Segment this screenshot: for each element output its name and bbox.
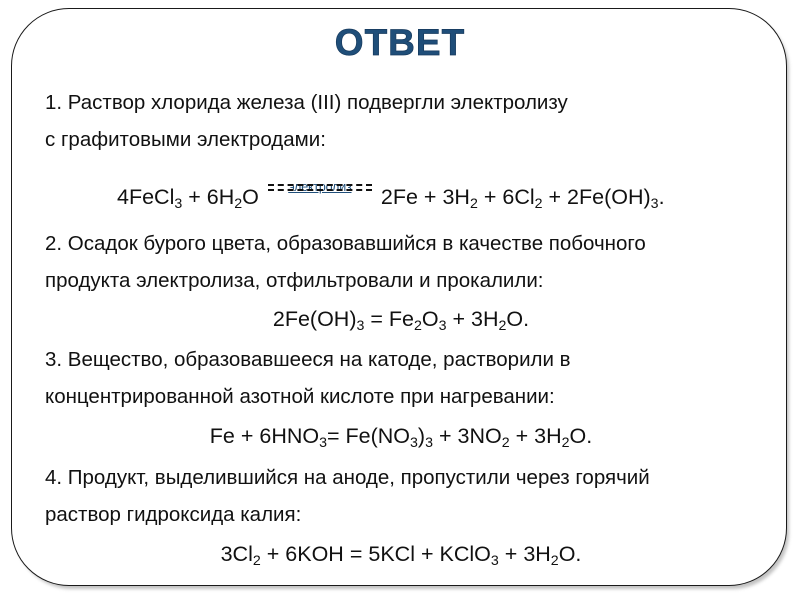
equation-4: 3Cl2 + 6KOH = 5KCl + KClO3 + 3H2O.	[45, 535, 757, 574]
eq1-feoh3: 2Fe(OH)	[567, 185, 651, 209]
eq2-h2o-o: O	[506, 307, 523, 331]
equation-2-block: 2Fe(OH)3 = Fe2O3 + 3H2O.	[45, 300, 757, 339]
slide-content: ОТВЕТ 1. Раствор хлорида железа (III) по…	[0, 0, 800, 600]
eq4-h2o: 3H	[523, 542, 550, 566]
electrolysis-condition-label: электролиз	[268, 168, 372, 207]
eq2-equals: =	[370, 307, 383, 331]
step-1-line-2: с графитовыми электродами:	[45, 121, 757, 158]
step-2-line-2: продукта электролиза, отфильтровали и пр…	[45, 262, 757, 299]
eq3-period: .	[586, 424, 592, 448]
step-4-line-1: 4. Продукт, выделившийся на аноде, пропу…	[45, 459, 757, 496]
step-3-line-1: 3. Вещество, образовавшееся на катоде, р…	[45, 341, 757, 378]
eq3-plus-3: +	[516, 424, 529, 448]
eq3-plus-2: +	[439, 424, 452, 448]
eq4-equals: =	[350, 542, 363, 566]
eq1-cl2: 6Cl	[502, 185, 534, 209]
eq1-period: .	[659, 185, 665, 209]
eq3-fe: Fe	[210, 424, 235, 448]
eq1-plus-4: +	[549, 185, 562, 209]
eq4-cl2-sub: 2	[253, 553, 261, 569]
step-1-block: 1. Раствор хлорида железа (III) подвергл…	[45, 84, 757, 158]
step-4-line-2: раствор гидроксида калия:	[45, 496, 757, 533]
eq4-plus-2: +	[421, 542, 434, 566]
step-1-line-1: 1. Раствор хлорида железа (III) подвергл…	[45, 84, 757, 121]
equation-1-block: 4FeCl3 + 6H2O электролиз 2Fe + 3H2 + 6Cl…	[45, 178, 757, 217]
step-2-block: 2. Осадок бурого цвета, образовавшийся в…	[45, 225, 757, 299]
eq3-feno33-sub2: 3	[425, 435, 433, 451]
eq1-fecl3-sub: 3	[174, 196, 182, 212]
eq1-fecl3: 4FeCl	[117, 185, 174, 209]
eq4-h2o-sub: 2	[551, 553, 559, 569]
eq1-h2o: 6H	[207, 185, 234, 209]
step-2-line-1: 2. Осадок бурого цвета, образовавшийся в…	[45, 225, 757, 262]
eq3-h2o: 3H	[534, 424, 561, 448]
eq1-h2o-sub: 2	[234, 196, 242, 212]
electrolysis-arrow: электролиз	[268, 183, 372, 205]
eq1-plus-1: +	[188, 185, 201, 209]
eq1-h2o-o: O	[242, 185, 259, 209]
eq3-h2o-o: O	[570, 424, 587, 448]
eq3-hno3: 6HNO	[259, 424, 319, 448]
eq3-no2: 3NO	[458, 424, 502, 448]
eq4-plus-1: +	[267, 542, 280, 566]
eq4-period: .	[575, 542, 581, 566]
eq1-fe: 2Fe	[381, 185, 418, 209]
eq4-kcl: 5KCl	[368, 542, 415, 566]
eq1-feoh3-sub: 3	[651, 196, 659, 212]
eq3-hno3-sub: 3	[319, 435, 327, 451]
eq4-cl2: 3Cl	[221, 542, 253, 566]
eq2-fe2o3-o: O	[422, 307, 439, 331]
equation-3: Fe + 6HNO3= Fe(NO3)3 + 3NO2 + 3H2O.	[45, 417, 757, 456]
eq2-feoh3: 2Fe(OH)	[273, 307, 357, 331]
equation-4-block: 3Cl2 + 6KOH = 5KCl + KClO3 + 3H2O.	[45, 535, 757, 574]
eq1-cl2-sub: 2	[535, 196, 543, 212]
eq1-h2: 3H	[442, 185, 469, 209]
step-4-block: 4. Продукт, выделившийся на аноде, пропу…	[45, 459, 757, 533]
eq2-period: .	[523, 307, 529, 331]
arrow-bar-bottom	[268, 189, 372, 191]
eq2-fe2o3-sub2: 3	[439, 318, 447, 334]
slide-canvas: ОТВЕТ 1. Раствор хлорида железа (III) по…	[0, 0, 800, 600]
step-3-block: 3. Вещество, образовавшееся на катоде, р…	[45, 341, 757, 415]
eq2-plus: +	[453, 307, 466, 331]
eq3-feno33: Fe(NO	[346, 424, 411, 448]
eq3-equals: =	[327, 424, 340, 448]
eq2-feoh3-sub: 3	[356, 318, 364, 334]
eq2-fe2o3-sub1: 2	[414, 318, 422, 334]
equation-3-block: Fe + 6HNO3= Fe(NO3)3 + 3NO2 + 3H2O.	[45, 417, 757, 456]
arrow-bar-top	[268, 184, 372, 186]
eq1-plus-2: +	[424, 185, 437, 209]
eq3-feno33-sub1: 3	[410, 435, 418, 451]
eq4-h2o-o: O	[559, 542, 576, 566]
equation-1: 4FeCl3 + 6H2O электролиз 2Fe + 3H2 + 6Cl…	[45, 178, 757, 217]
eq1-plus-3: +	[484, 185, 497, 209]
eq4-plus-3: +	[505, 542, 518, 566]
eq4-koh: 6KOH	[285, 542, 344, 566]
eq1-h2-sub: 2	[470, 196, 478, 212]
eq4-kclo3: KClO	[440, 542, 491, 566]
equation-2: 2Fe(OH)3 = Fe2O3 + 3H2O.	[45, 300, 757, 339]
page-title: ОТВЕТ	[0, 22, 800, 64]
eq4-kclo3-sub: 3	[491, 553, 499, 569]
eq2-fe2o3-fe: Fe	[389, 307, 414, 331]
eq3-h2o-sub: 2	[562, 435, 570, 451]
eq2-h2o: 3H	[471, 307, 498, 331]
eq3-plus-1: +	[241, 424, 254, 448]
step-3-line-2: концентрированной азотной кислоте при на…	[45, 378, 757, 415]
eq3-no2-sub: 2	[502, 435, 510, 451]
